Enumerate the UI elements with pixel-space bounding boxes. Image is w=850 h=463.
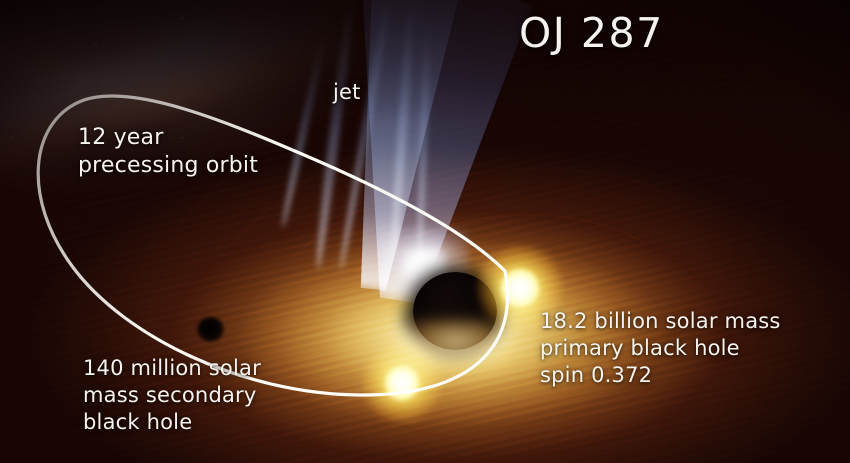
vignette-overlay	[0, 0, 850, 463]
illustration-scene: OJ 287 jet 12 year precessing orbit 18.2…	[0, 0, 850, 463]
